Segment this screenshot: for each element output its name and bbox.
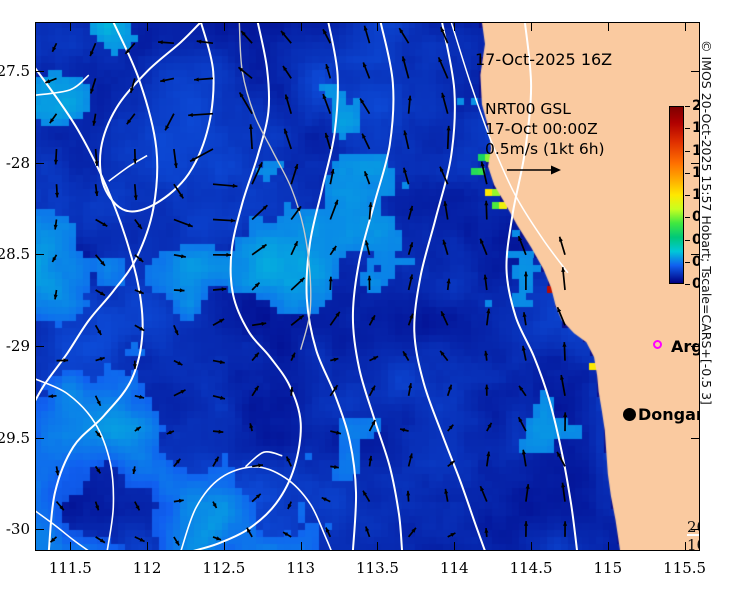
x-axis-tick — [70, 542, 71, 551]
x-axis-tick-label: 114 — [419, 559, 489, 577]
current-vector-head — [559, 237, 563, 242]
current-vector-head — [524, 521, 528, 526]
colorbar-tick — [685, 262, 690, 263]
contour-line — [193, 22, 301, 551]
x-axis-tick — [377, 542, 378, 551]
argo-open-circle-icon — [653, 340, 662, 349]
current-vector-head — [188, 113, 193, 117]
current-vector-head — [323, 94, 327, 99]
current-vector-head — [158, 40, 163, 44]
x-axis-tick-label: 113.5 — [342, 559, 412, 577]
current-vector-head — [562, 342, 566, 347]
contour-line — [35, 68, 143, 551]
contour-line — [109, 156, 147, 182]
x-axis-tick — [147, 542, 148, 551]
current-vector-head — [485, 385, 489, 390]
current-vector-head — [484, 201, 488, 206]
sst-age-map-figure: 17-Oct-2025 16Z NRT00 GSL 17-Oct 00:00Z … — [0, 0, 740, 592]
map-plot-area: 17-Oct-2025 16Z NRT00 GSL 17-Oct 00:00Z … — [35, 22, 700, 551]
x-axis-tick — [301, 542, 302, 551]
current-vector-head — [326, 64, 330, 69]
colorbar-tick — [685, 195, 690, 196]
current-vector-head — [180, 288, 185, 292]
timestamp-label: 17-Oct-2025 16Z — [475, 50, 612, 69]
current-vector-head — [409, 314, 413, 319]
contour-line — [245, 452, 282, 467]
current-vector-head — [329, 277, 333, 282]
y-axis-tick — [35, 163, 44, 164]
current-vector-head — [406, 491, 410, 496]
current-vector-head — [409, 242, 413, 247]
current-vector-head — [64, 358, 69, 362]
y-axis-tick — [35, 254, 44, 255]
x-axis-tick-label: 114.5 — [496, 559, 566, 577]
current-vector-head — [100, 357, 105, 361]
current-vector-head — [95, 505, 99, 510]
current-vector-head — [364, 171, 368, 176]
vector-scale-label: 0.5m/s (1kt 6h) — [485, 140, 605, 158]
colorbar-tick — [685, 151, 690, 152]
reference-vector-arrow-icon — [505, 162, 565, 178]
current-vector-head — [249, 124, 253, 129]
x-axis-tick-label: 113 — [266, 559, 336, 577]
current-vector-head — [284, 129, 288, 134]
current-vector-head — [194, 78, 199, 82]
current-vector-head — [222, 287, 227, 291]
y-axis-tick-label: -28 — [0, 154, 30, 172]
contour-line — [35, 511, 89, 551]
y-axis-tick-label: -29.5 — [0, 429, 30, 447]
x-axis-tick — [685, 542, 686, 551]
colorbar-tick — [685, 128, 690, 129]
contour-line — [414, 22, 485, 551]
colorbar — [669, 106, 684, 284]
contour-line — [353, 22, 402, 551]
current-vector-head — [216, 536, 221, 540]
y-axis-tick — [35, 438, 44, 439]
x-axis-tick — [147, 22, 148, 31]
x-axis-tick — [454, 22, 455, 31]
colorbar-tick — [685, 240, 690, 241]
current-vector-head — [448, 385, 452, 390]
x-axis-tick-label: 115 — [573, 559, 643, 577]
dongara-place-label: Dongara — [638, 405, 700, 424]
source-time-label: 17-Oct 00:00Z — [485, 120, 598, 138]
x-axis-tick — [608, 22, 609, 31]
current-vector-head — [167, 430, 172, 434]
colorbar-tick — [685, 217, 690, 218]
x-axis-tick — [608, 542, 609, 551]
x-axis-tick — [377, 22, 378, 31]
current-vector-head — [563, 412, 567, 417]
current-vector-head — [363, 62, 367, 67]
x-axis-tick-label: 112 — [112, 559, 182, 577]
dongara-filled-circle-icon — [623, 408, 636, 421]
x-axis-tick — [531, 542, 532, 551]
current-vector-head — [367, 276, 371, 281]
contour-line — [181, 467, 332, 551]
contour-line — [239, 22, 311, 350]
x-axis-tick — [70, 22, 71, 31]
y-axis-tick-label: -30 — [0, 520, 30, 538]
contour-line — [35, 379, 113, 551]
current-vector-head — [54, 160, 58, 165]
x-axis-tick — [685, 22, 686, 31]
x-axis-tick — [224, 542, 225, 551]
current-vector-head — [447, 126, 451, 131]
x-axis-tick — [224, 22, 225, 31]
current-vector-head — [518, 236, 522, 241]
current-vector-head — [403, 168, 407, 173]
x-axis-tick-label: 111.5 — [35, 559, 105, 577]
y-axis-tick-label: -29 — [0, 337, 30, 355]
current-vector-head — [55, 193, 59, 198]
x-axis-tick — [531, 22, 532, 31]
y-axis-tick — [35, 529, 44, 530]
colorbar-tick — [685, 173, 690, 174]
y-axis-tick-label: -28.5 — [0, 245, 30, 263]
colorbar-tick — [685, 106, 690, 107]
colorbar-tick — [685, 284, 690, 285]
current-vector-head — [231, 219, 236, 223]
x-axis-tick-label: 115.5 — [650, 559, 720, 577]
y-axis-tick — [35, 71, 44, 72]
x-axis-tick-label: 112.5 — [189, 559, 259, 577]
current-vector-head — [563, 521, 567, 526]
y-axis-tick-label: -27.5 — [0, 62, 30, 80]
x-axis-tick — [454, 542, 455, 551]
current-vector-head — [188, 223, 193, 227]
x-axis-tick — [301, 22, 302, 31]
current-vector-head — [524, 272, 528, 277]
colorbar-gradient — [670, 107, 683, 283]
current-vector-head — [45, 79, 50, 83]
current-vector-head — [368, 202, 372, 207]
current-vector-head — [334, 200, 338, 205]
current-vector-head — [90, 89, 94, 94]
current-vector-head — [365, 527, 369, 532]
contours-and-vectors-overlay — [35, 22, 700, 551]
current-vector-head — [294, 164, 298, 169]
credit-label: © IMOS 20-Oct-2025 15:57 Hobart; Tscale=… — [699, 40, 714, 560]
y-axis-tick — [35, 346, 44, 347]
source-model-label: NRT00 GSL — [485, 100, 571, 118]
